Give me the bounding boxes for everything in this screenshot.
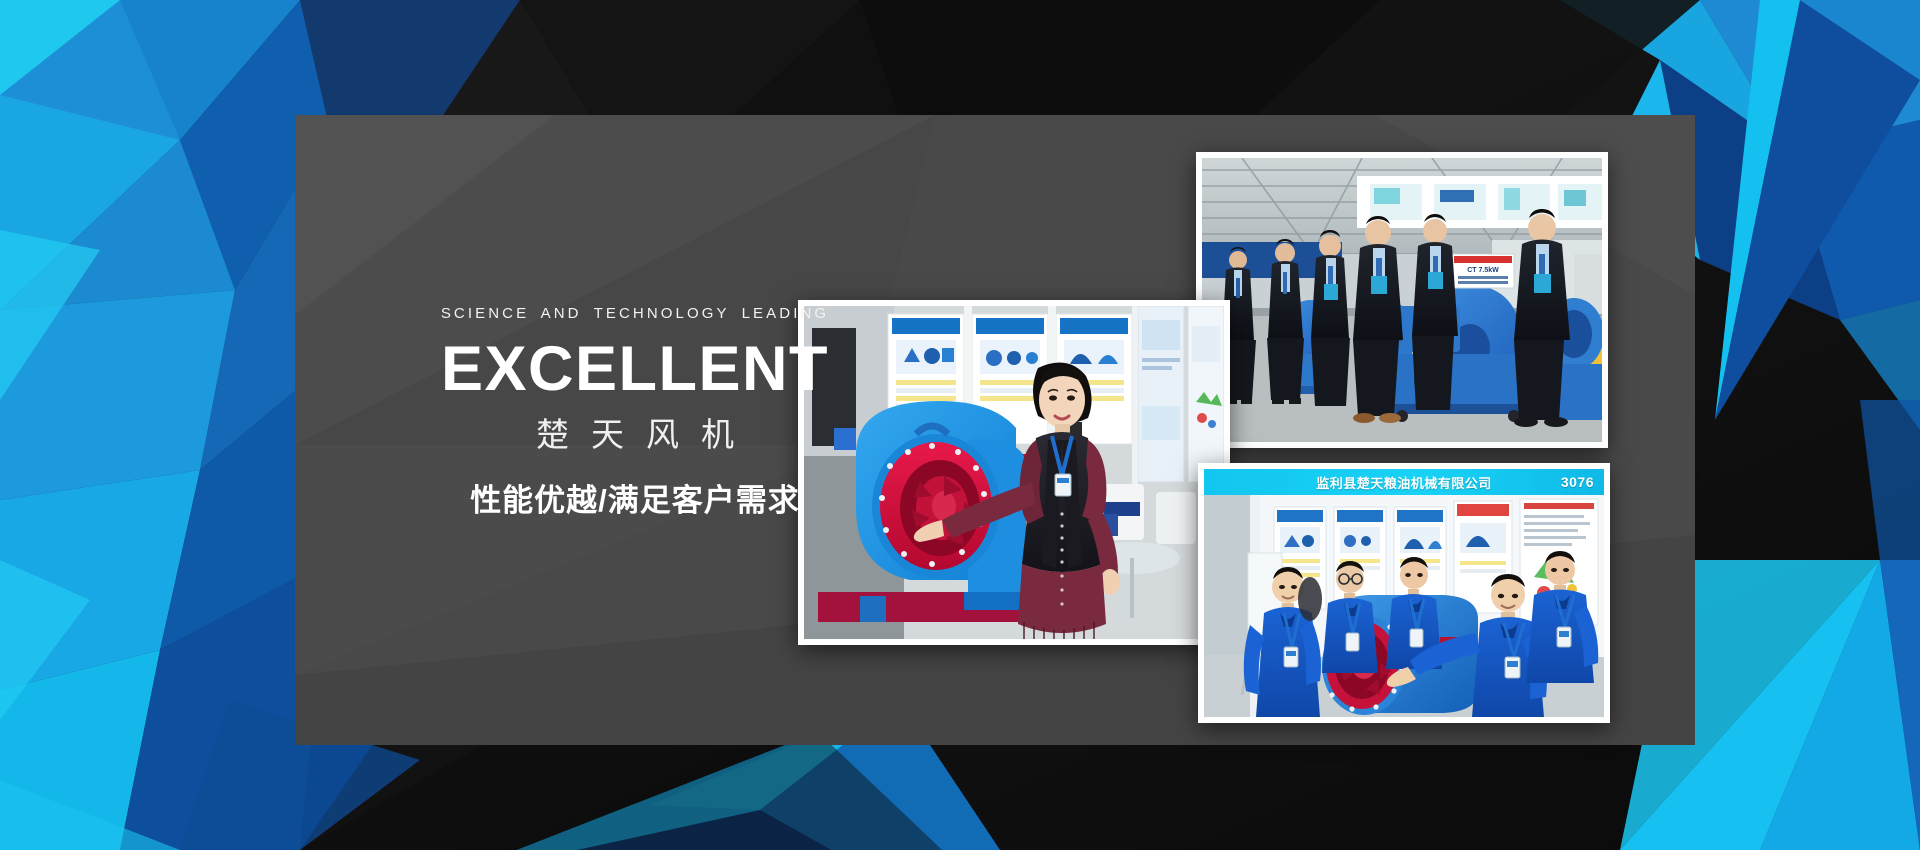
booth-number: 3076 bbox=[1561, 474, 1594, 490]
page-title: EXCELLENT bbox=[395, 338, 875, 401]
hero-banner: SCIENCE AND TECHNOLOGY LEADING EXCELLENT… bbox=[0, 0, 1920, 850]
photo-team-blue-polos-image: 监利县楚天粮油机械有限公司 3076 bbox=[1204, 469, 1604, 717]
tagline: SCIENCE AND TECHNOLOGY LEADING bbox=[395, 305, 875, 322]
photo-team-in-suits[interactable]: CT 7.5kW bbox=[1196, 152, 1608, 448]
hero-text-block: SCIENCE AND TECHNOLOGY LEADING EXCELLENT… bbox=[395, 305, 875, 520]
company-name-cn: 楚天风机 bbox=[395, 415, 875, 455]
photo-team-in-suits-image: CT 7.5kW bbox=[1202, 158, 1602, 442]
photo-team-blue-polos[interactable]: 监利县楚天粮油机械有限公司 3076 bbox=[1198, 463, 1610, 723]
booth-banner: 监利县楚天粮油机械有限公司 3076 bbox=[1204, 469, 1604, 495]
slogan: 性能优越/满足客户需求 bbox=[395, 475, 875, 520]
svg-text:CT 7.5kW: CT 7.5kW bbox=[1467, 267, 1499, 274]
booth-banner-text: 监利县楚天粮油机械有限公司 bbox=[1316, 473, 1492, 492]
